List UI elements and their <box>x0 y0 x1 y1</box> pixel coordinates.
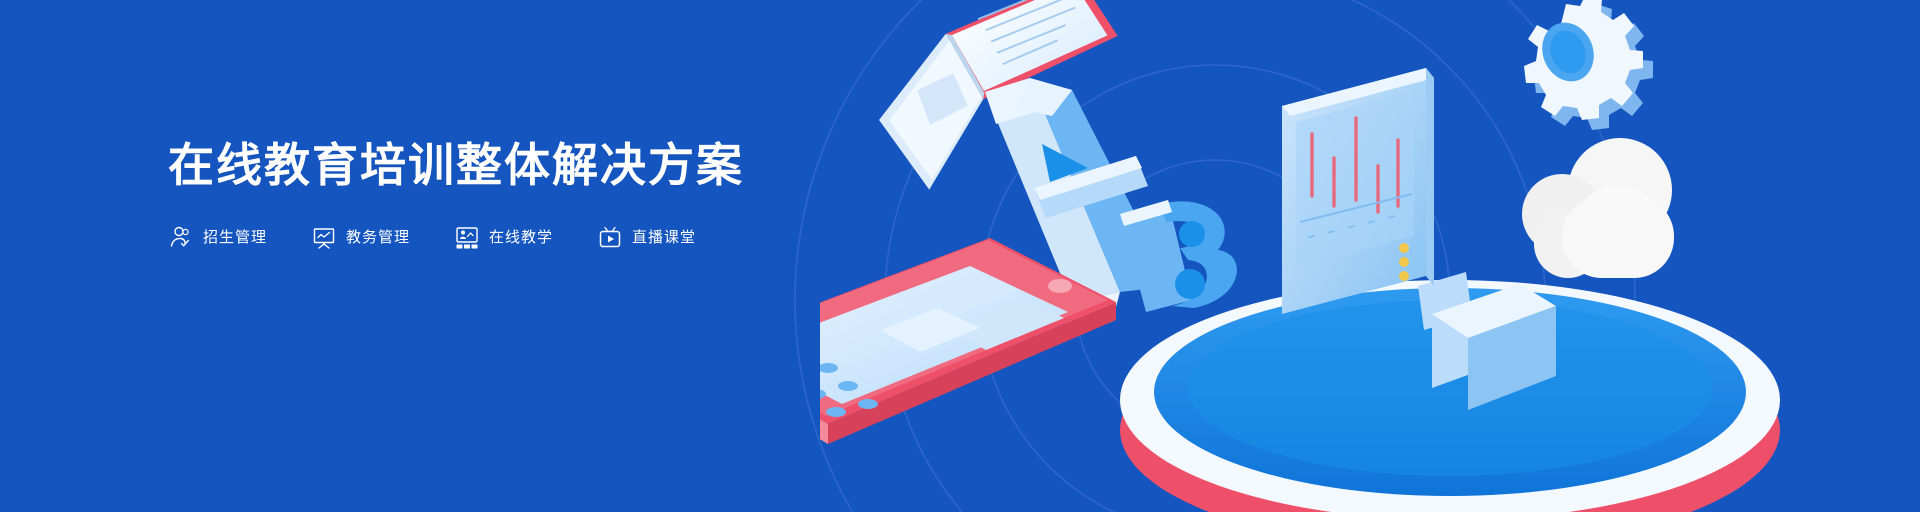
feature-list: 招生管理 教务管理 <box>168 225 928 251</box>
user-group-icon <box>168 225 194 251</box>
chart-board-icon <box>311 225 337 251</box>
feature-item-live-classroom[interactable]: 直播课堂 <box>597 225 696 251</box>
feature-item-online-teaching[interactable]: 在线教学 <box>454 225 553 251</box>
background-rings <box>0 0 1920 512</box>
whiteboard-teacher-icon <box>454 225 480 251</box>
feature-label: 在线教学 <box>489 230 553 245</box>
hero-copy: 在线教育培训整体解决方案 招生管理 教务 <box>168 140 928 251</box>
hero-illustration <box>820 0 1920 512</box>
tv-play-icon <box>597 225 623 251</box>
feature-item-enrollment[interactable]: 招生管理 <box>168 225 267 251</box>
monitor-bar-chart <box>1282 68 1472 330</box>
tablet-device <box>820 238 1116 444</box>
gear-icon <box>1524 0 1653 130</box>
cloud-large-right <box>1522 138 1674 278</box>
feature-label: 教务管理 <box>346 230 410 245</box>
circular-platform <box>1120 280 1780 512</box>
letter-b-3d <box>1120 200 1237 312</box>
eraser-block <box>1432 284 1556 410</box>
page-title: 在线教育培训整体解决方案 <box>168 140 928 191</box>
feature-item-academic-affairs[interactable]: 教务管理 <box>311 225 410 251</box>
feature-label: 招生管理 <box>203 230 267 245</box>
feature-label: 直播课堂 <box>632 230 696 245</box>
letter-a-3d <box>985 78 1172 330</box>
education-hero-banner: 在线教育培训整体解决方案 招生管理 教务 <box>0 0 1920 512</box>
